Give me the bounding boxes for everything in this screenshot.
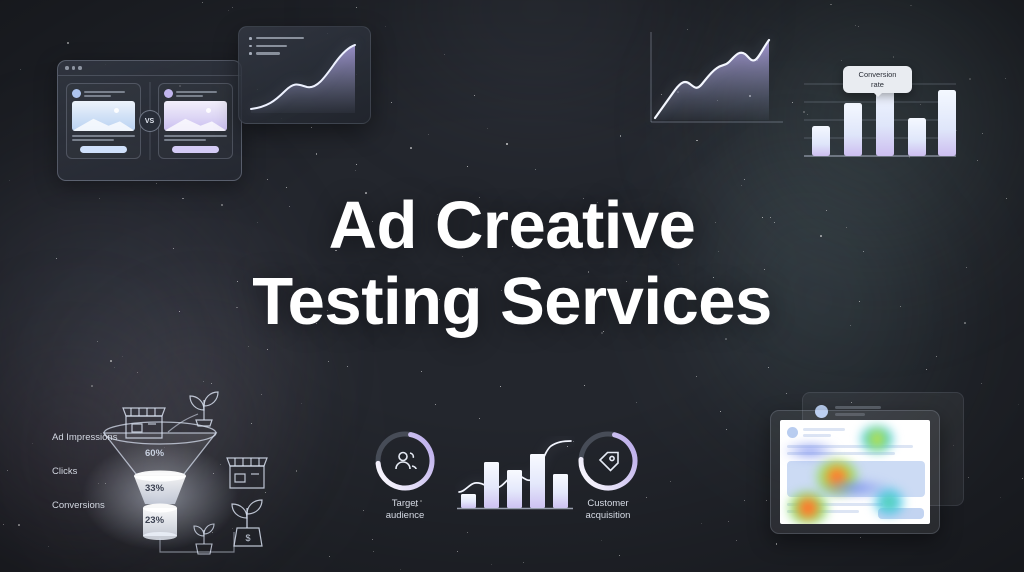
ad-variant-b <box>158 83 233 159</box>
versus-badge: VS <box>139 110 161 132</box>
browser-titlebar <box>58 61 241 76</box>
heatmap-tablet-mockup <box>762 392 974 544</box>
funnel-percent-2: 23% <box>145 515 164 526</box>
variant-a-header <box>72 89 135 98</box>
tag-icon <box>600 453 618 471</box>
metric-label-line-2: audience <box>362 510 448 522</box>
hero-banner: Ad Creative Testing Services <box>0 0 1024 572</box>
window-dot-close-icon <box>65 66 69 70</box>
variant-a-cta-button[interactable] <box>80 146 127 153</box>
funnel-percent-0: 60% <box>145 448 164 459</box>
svg-text:$: $ <box>245 533 250 543</box>
conversion-funnel: $ Ad Impressions Clicks Conversions 60% … <box>38 386 338 556</box>
heat-hotspot <box>820 480 890 496</box>
funnel-label-0: Ad Impressions <box>52 432 117 444</box>
funnel-labels: Ad Impressions Clicks Conversions <box>52 432 117 512</box>
metric-label-line-1: Customer <box>565 498 651 510</box>
metric-label-line-1: Target <box>362 498 448 510</box>
heat-hotspot <box>786 492 830 524</box>
text-line <box>84 95 111 97</box>
users-icon <box>396 453 416 470</box>
page-title-line-1: Ad Creative <box>0 188 1024 264</box>
ab-test-browser-mockup: VS <box>57 60 242 181</box>
growth-line-chart <box>645 28 788 134</box>
page-title: Ad Creative Testing Services <box>0 188 1024 340</box>
tablet-front-panel <box>770 410 940 534</box>
funnel-label-2: Conversions <box>52 500 117 512</box>
analytics-card <box>238 26 371 124</box>
text-line <box>164 135 227 137</box>
funnel-percent-1: 33% <box>145 483 164 494</box>
area-chart-sparkline <box>239 27 370 123</box>
target-audience-ring <box>372 428 438 494</box>
text-line <box>164 139 206 141</box>
ab-test-body: VS <box>58 76 241 166</box>
ad-variant-a <box>66 83 141 159</box>
conversion-rate-tooltip: Conversion rate <box>843 66 912 93</box>
money-bag-icon: $ <box>232 500 262 546</box>
plant-growth-icon <box>190 392 218 426</box>
text-line <box>72 135 135 137</box>
variant-a-footer <box>72 135 135 141</box>
performance-mini-bar-chart <box>455 436 575 512</box>
heatmap-screen <box>780 420 930 524</box>
bars <box>461 454 568 508</box>
funnel-label-1: Clicks <box>52 466 117 478</box>
page-title-line-2: Testing Services <box>0 264 1024 340</box>
heat-hotspot <box>782 442 838 460</box>
text-line <box>176 95 203 97</box>
variant-b-footer <box>164 135 227 141</box>
tooltip-line-2: rate <box>848 80 907 90</box>
tooltip-line-1: Conversion <box>848 70 907 80</box>
customer-acquisition-caption: Customer acquisition <box>565 498 651 522</box>
variant-b-cta-button[interactable] <box>172 146 219 153</box>
window-dot-minimize-icon <box>72 66 76 70</box>
metric-label-line-2: acquisition <box>565 510 651 522</box>
text-line <box>72 139 114 141</box>
variant-b-header <box>164 89 227 98</box>
heat-hotspot <box>860 426 894 452</box>
text-line <box>84 91 125 93</box>
avatar <box>72 89 81 98</box>
customer-acquisition-ring <box>575 428 641 494</box>
metrics-row: Target audience <box>360 418 670 543</box>
window-dot-maximize-icon <box>78 66 82 70</box>
avatar <box>164 89 173 98</box>
image-placeholder-icon <box>164 101 227 131</box>
text-line <box>176 91 217 93</box>
image-placeholder-icon <box>72 101 135 131</box>
target-audience-caption: Target audience <box>362 498 448 522</box>
